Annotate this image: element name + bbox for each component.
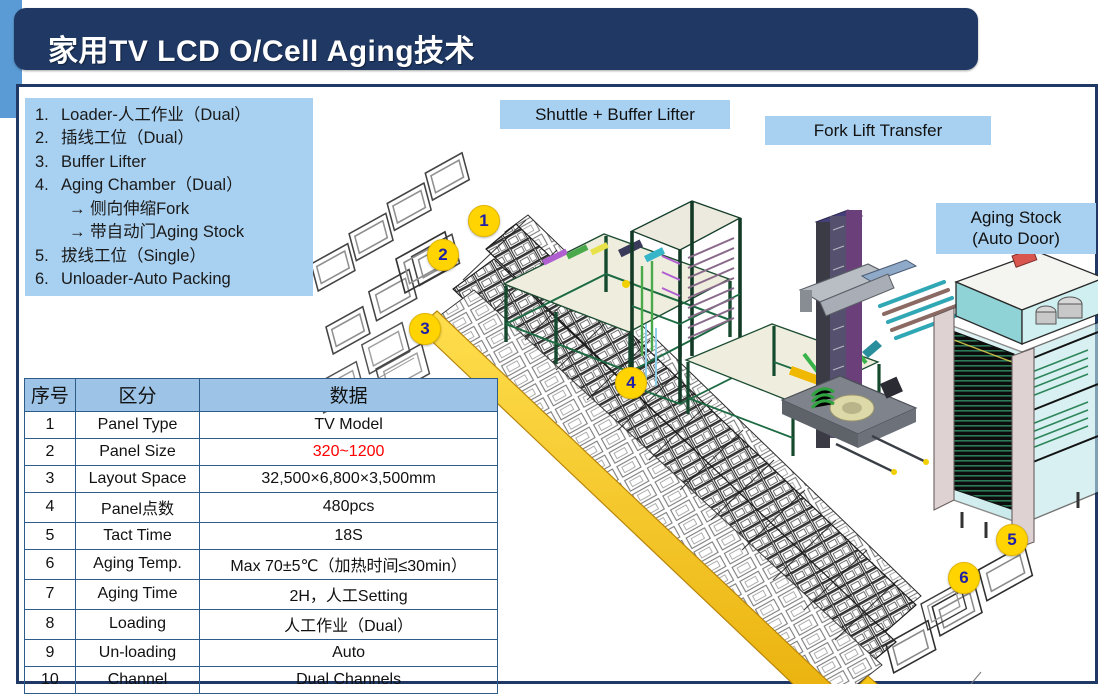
- table-cell-data: 2H，人工Setting: [200, 580, 498, 610]
- table-cell-no: 5: [25, 523, 76, 550]
- list-item-number: 6.: [35, 268, 61, 291]
- marker-1: 1: [468, 205, 500, 237]
- caption-fork-lift-transfer: Fork Lift Transfer: [765, 116, 991, 145]
- table-header-no: 序号: [25, 379, 76, 412]
- marker-5: 5: [996, 524, 1028, 556]
- table-header-div: 区分: [75, 379, 199, 412]
- list-item-number: 4.: [35, 174, 61, 197]
- list-sub-item: → 侧向伸缩Fork: [35, 198, 305, 221]
- table-cell-no: 6: [25, 550, 76, 580]
- process-list-box: 1. Loader-人工作业（Dual） 2. 插线工位（Dual） 3. Bu…: [25, 98, 313, 296]
- table-cell-data: 人工作业（Dual）: [200, 610, 498, 640]
- table-cell-data: Auto: [200, 640, 498, 667]
- list-item-number: 5.: [35, 245, 61, 268]
- title-bar: 家用TV LCD O/Cell Aging技术: [14, 8, 978, 70]
- table-cell-div: Panel点数: [75, 493, 199, 523]
- marker-3: 3: [409, 313, 441, 345]
- marker-4: 4: [615, 367, 647, 399]
- table-cell-no: 2: [25, 439, 76, 466]
- list-item: 3. Buffer Lifter: [35, 151, 305, 174]
- table-row: 6Aging Temp.Max 70±5℃（加热时间≤30min）: [25, 550, 498, 580]
- list-item: 4. Aging Chamber（Dual）: [35, 174, 305, 197]
- table-cell-no: 3: [25, 466, 76, 493]
- caption-aging-stock: Aging Stock (Auto Door): [936, 203, 1096, 254]
- slide-canvas: 家用TV LCD O/Cell Aging技术: [0, 0, 1115, 698]
- table-cell-no: 1: [25, 412, 76, 439]
- table-cell-no: 9: [25, 640, 76, 667]
- table-cell-data: TV Model: [200, 412, 498, 439]
- table-cell-div: Aging Time: [75, 580, 199, 610]
- list-item-number: 1.: [35, 104, 61, 127]
- table-cell-div: Un-loading: [75, 640, 199, 667]
- table-row: 1Panel TypeTV Model: [25, 412, 498, 439]
- list-item-number: 3.: [35, 151, 61, 174]
- table-row: 9Un-loadingAuto: [25, 640, 498, 667]
- table-cell-no: 4: [25, 493, 76, 523]
- page-title: 家用TV LCD O/Cell Aging技术: [48, 26, 475, 70]
- list-item: 6. Unloader-Auto Packing: [35, 268, 305, 291]
- list-item: 1. Loader-人工作业（Dual）: [35, 104, 305, 127]
- table-header-row: 序号 区分 数据: [25, 379, 498, 412]
- list-item-label: Aging Chamber（Dual）: [61, 174, 243, 197]
- table-cell-data: Max 70±5℃（加热时间≤30min）: [200, 550, 498, 580]
- table-cell-no: 7: [25, 580, 76, 610]
- list-item: 2. 插线工位（Dual）: [35, 127, 305, 150]
- list-item: 5. 拔线工位（Single）: [35, 245, 305, 268]
- list-item-label: Loader-人工作业（Dual）: [61, 104, 251, 127]
- list-item-label: 插线工位（Dual）: [61, 127, 194, 150]
- table-cell-div: Layout Space: [75, 466, 199, 493]
- table-cell-no: 8: [25, 610, 76, 640]
- table-row: 10ChannelDual Channels: [25, 667, 498, 694]
- table-cell-data: Dual Channels: [200, 667, 498, 694]
- table-cell-div: Tact Time: [75, 523, 199, 550]
- list-sub-item: → 带自动门Aging Stock: [35, 221, 305, 244]
- table-cell-div: Panel Size: [75, 439, 199, 466]
- list-item-label: Unloader-Auto Packing: [61, 268, 231, 291]
- table-cell-div: Loading: [75, 610, 199, 640]
- table-cell-data: 18S: [200, 523, 498, 550]
- table-cell-div: Channel: [75, 667, 199, 694]
- marker-2: 2: [427, 239, 459, 271]
- table-row: 7Aging Time2H，人工Setting: [25, 580, 498, 610]
- list-item-label: 拔线工位（Single）: [61, 245, 206, 268]
- table-cell-div: Panel Type: [75, 412, 199, 439]
- table-row: 5Tact Time18S: [25, 523, 498, 550]
- list-item-number: 2.: [35, 127, 61, 150]
- table-header-data: 数据: [200, 379, 498, 412]
- table-cell-data: 32,500×6,800×3,500mm: [200, 466, 498, 493]
- caption-shuttle-buffer-lifter: Shuttle + Buffer Lifter: [500, 100, 730, 129]
- table-row: 3Layout Space32,500×6,800×3,500mm: [25, 466, 498, 493]
- table-row: 4Panel点数480pcs: [25, 493, 498, 523]
- table-cell-data: 320~1200: [200, 439, 498, 466]
- table-row: 8Loading人工作业（Dual）: [25, 610, 498, 640]
- marker-6: 6: [948, 562, 980, 594]
- table-cell-data: 480pcs: [200, 493, 498, 523]
- spec-table: 序号 区分 数据 1Panel TypeTV Model2Panel Size3…: [24, 378, 498, 694]
- table-row: 2Panel Size320~1200: [25, 439, 498, 466]
- list-item-label: Buffer Lifter: [61, 151, 146, 174]
- table-cell-div: Aging Temp.: [75, 550, 199, 580]
- table-cell-no: 10: [25, 667, 76, 694]
